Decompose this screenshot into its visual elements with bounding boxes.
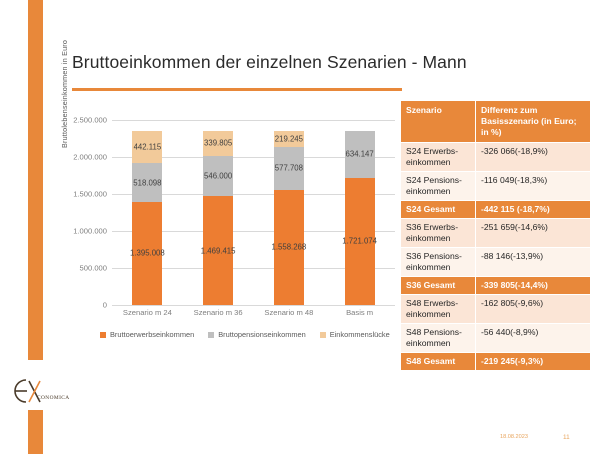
bar-segment[interactable]: 339.805 xyxy=(203,131,233,156)
table-cell-difference: -442 115 (-18,7%) xyxy=(476,201,591,219)
bar-value-label: 518.098 xyxy=(133,178,161,187)
y-axis-tick: 1.500.000 xyxy=(73,190,107,199)
left-accent-bar-bottom xyxy=(28,410,43,454)
footer-page-number: 11 xyxy=(563,434,570,441)
table-cell-scenario: S48 Erwerbs-einkommen xyxy=(401,295,476,324)
bar-segment[interactable]: 1.469.415 xyxy=(203,196,233,305)
bar-value-label: 546.000 xyxy=(204,172,232,181)
x-axis-tick: Szenario m 36 xyxy=(183,308,254,317)
bar-value-label: 1.721.074 xyxy=(342,237,377,246)
bar-value-label: 1.469.415 xyxy=(201,246,236,255)
x-axis-tick: Szenario m 24 xyxy=(112,308,183,317)
legend-label: Bruttoerwerbseinkommen xyxy=(110,330,194,339)
table-cell-difference: -251 659(-14,6%) xyxy=(476,219,591,248)
bar-value-label: 634.147 xyxy=(346,150,374,159)
table-cell-difference: -162 805(-9,6%) xyxy=(476,295,591,324)
bar-column[interactable]: 634.1471.721.074 xyxy=(324,120,395,305)
difference-table: SzenarioDifferenz zum Basisszenario (in … xyxy=(400,100,591,371)
bar-column[interactable]: 442.115518.0981.395.008 xyxy=(112,120,183,305)
bar-segment[interactable]: 1.558.268 xyxy=(274,190,304,305)
bar-value-label: 442.115 xyxy=(134,143,162,152)
bar-segment[interactable]: 1.721.074 xyxy=(345,178,375,305)
x-axis-tick: Szenario m 48 xyxy=(254,308,325,317)
y-axis-label: Bruttolebenseinkommen in Euro xyxy=(60,40,69,148)
table-row[interactable]: S24 Gesamt-442 115 (-18,7%) xyxy=(401,201,591,219)
table-row[interactable]: S48 Pensions-einkommen-56 440(-8,9%) xyxy=(401,324,591,353)
table-row[interactable]: S48 Erwerbs-einkommen-162 805(-9,6%) xyxy=(401,295,591,324)
bar-value-label: 339.805 xyxy=(204,139,232,148)
grid-line xyxy=(112,305,395,306)
table-cell-scenario: S24 Pensions-einkommen xyxy=(401,172,476,201)
legend-label: Einkommenslücke xyxy=(330,330,390,339)
legend-item[interactable]: Bruttopensionseinkommen xyxy=(208,330,306,339)
table-row[interactable]: S48 Gesamt-219 245(-9,3%) xyxy=(401,353,591,371)
x-axis-tick: Basis m xyxy=(324,308,395,317)
stacked-bar[interactable]: 634.1471.721.074 xyxy=(345,131,375,305)
chart-legend: BruttoerwerbseinkommenBruttopensionseink… xyxy=(100,330,400,339)
table-cell-difference: -116 049(-18,3%) xyxy=(476,172,591,201)
stacked-bar[interactable]: 442.115518.0981.395.008 xyxy=(132,131,162,305)
title-underline xyxy=(72,88,402,91)
bar-segment[interactable]: 219.245 xyxy=(274,131,304,147)
slide-canvas: CONOMICA Bruttoeinkommen der einzelnen S… xyxy=(0,0,605,454)
economica-logo: CONOMICA xyxy=(4,372,84,412)
bar-value-label: 1.395.008 xyxy=(130,249,165,258)
bar-column[interactable]: 219.245577.7081.558.268 xyxy=(254,120,325,305)
chart-plot-area: 0500.0001.000.0001.500.0002.000.0002.500… xyxy=(112,120,395,305)
legend-item[interactable]: Einkommenslücke xyxy=(320,330,390,339)
bar-value-label: 1.558.268 xyxy=(272,243,307,252)
table-cell-difference: -339 805(-14,4%) xyxy=(476,277,591,295)
table-cell-difference: -219 245(-9,3%) xyxy=(476,353,591,371)
legend-label: Bruttopensionseinkommen xyxy=(218,330,306,339)
table-row[interactable]: S36 Pensions-einkommen-88 146(-13,9%) xyxy=(401,248,591,277)
footer-date: 18.08.2023 xyxy=(500,434,528,440)
y-axis-tick: 2.500.000 xyxy=(73,116,107,125)
table-row[interactable]: S36 Gesamt-339 805(-14,4%) xyxy=(401,277,591,295)
stacked-bar-chart: Bruttolebenseinkommen in Euro 0500.0001.… xyxy=(62,112,397,337)
table-row[interactable]: S36 Erwerbs-einkommen-251 659(-14,6%) xyxy=(401,219,591,248)
legend-item[interactable]: Bruttoerwerbseinkommen xyxy=(100,330,194,339)
legend-swatch xyxy=(208,332,214,338)
table-cell-difference: -56 440(-8,9%) xyxy=(476,324,591,353)
bar-segment[interactable]: 546.000 xyxy=(203,156,233,196)
x-axis-labels: Szenario m 24Szenario m 36Szenario m 48B… xyxy=(112,308,395,317)
table-header-cell: Szenario xyxy=(401,101,476,143)
table-cell-scenario: S36 Gesamt xyxy=(401,277,476,295)
y-axis-tick: 500.000 xyxy=(80,264,107,273)
table-cell-scenario: S24 Erwerbs-einkommen xyxy=(401,143,476,172)
bar-value-label: 577.708 xyxy=(275,164,303,173)
bar-segment[interactable]: 577.708 xyxy=(274,147,304,190)
bar-segment[interactable]: 518.098 xyxy=(132,163,162,201)
left-accent-bar-top xyxy=(28,0,43,360)
table-cell-scenario: S36 Erwerbs-einkommen xyxy=(401,219,476,248)
stacked-bar[interactable]: 219.245577.7081.558.268 xyxy=(274,131,304,305)
table-header-cell: Differenz zum Basisszenario (in Euro; in… xyxy=(476,101,591,143)
stacked-bar[interactable]: 339.805546.0001.469.415 xyxy=(203,131,233,305)
table-cell-scenario: S48 Gesamt xyxy=(401,353,476,371)
legend-swatch xyxy=(320,332,326,338)
legend-swatch xyxy=(100,332,106,338)
bar-value-label: 219.245 xyxy=(275,134,303,143)
table-row[interactable]: S24 Erwerbs-einkommen-326 066(-18,9%) xyxy=(401,143,591,172)
y-axis-tick: 0 xyxy=(103,301,107,310)
y-axis-tick: 1.000.000 xyxy=(73,227,107,236)
table-cell-scenario: S48 Pensions-einkommen xyxy=(401,324,476,353)
y-axis-tick: 2.000.000 xyxy=(73,153,107,162)
page-title: Bruttoeinkommen der einzelnen Szenarien … xyxy=(72,52,522,73)
table-cell-scenario: S36 Pensions-einkommen xyxy=(401,248,476,277)
bar-group: 442.115518.0981.395.008339.805546.0001.4… xyxy=(112,120,395,305)
table-cell-scenario: S24 Gesamt xyxy=(401,201,476,219)
table-row[interactable]: S24 Pensions-einkommen-116 049(-18,3%) xyxy=(401,172,591,201)
bar-column[interactable]: 339.805546.0001.469.415 xyxy=(183,120,254,305)
svg-text:CONOMICA: CONOMICA xyxy=(37,395,70,401)
bar-segment[interactable]: 1.395.008 xyxy=(132,202,162,305)
table-cell-difference: -326 066(-18,9%) xyxy=(476,143,591,172)
bar-segment[interactable]: 442.115 xyxy=(132,131,162,164)
bar-segment[interactable]: 634.147 xyxy=(345,131,375,178)
table-cell-difference: -88 146(-13,9%) xyxy=(476,248,591,277)
table-header-row: SzenarioDifferenz zum Basisszenario (in … xyxy=(401,101,591,143)
